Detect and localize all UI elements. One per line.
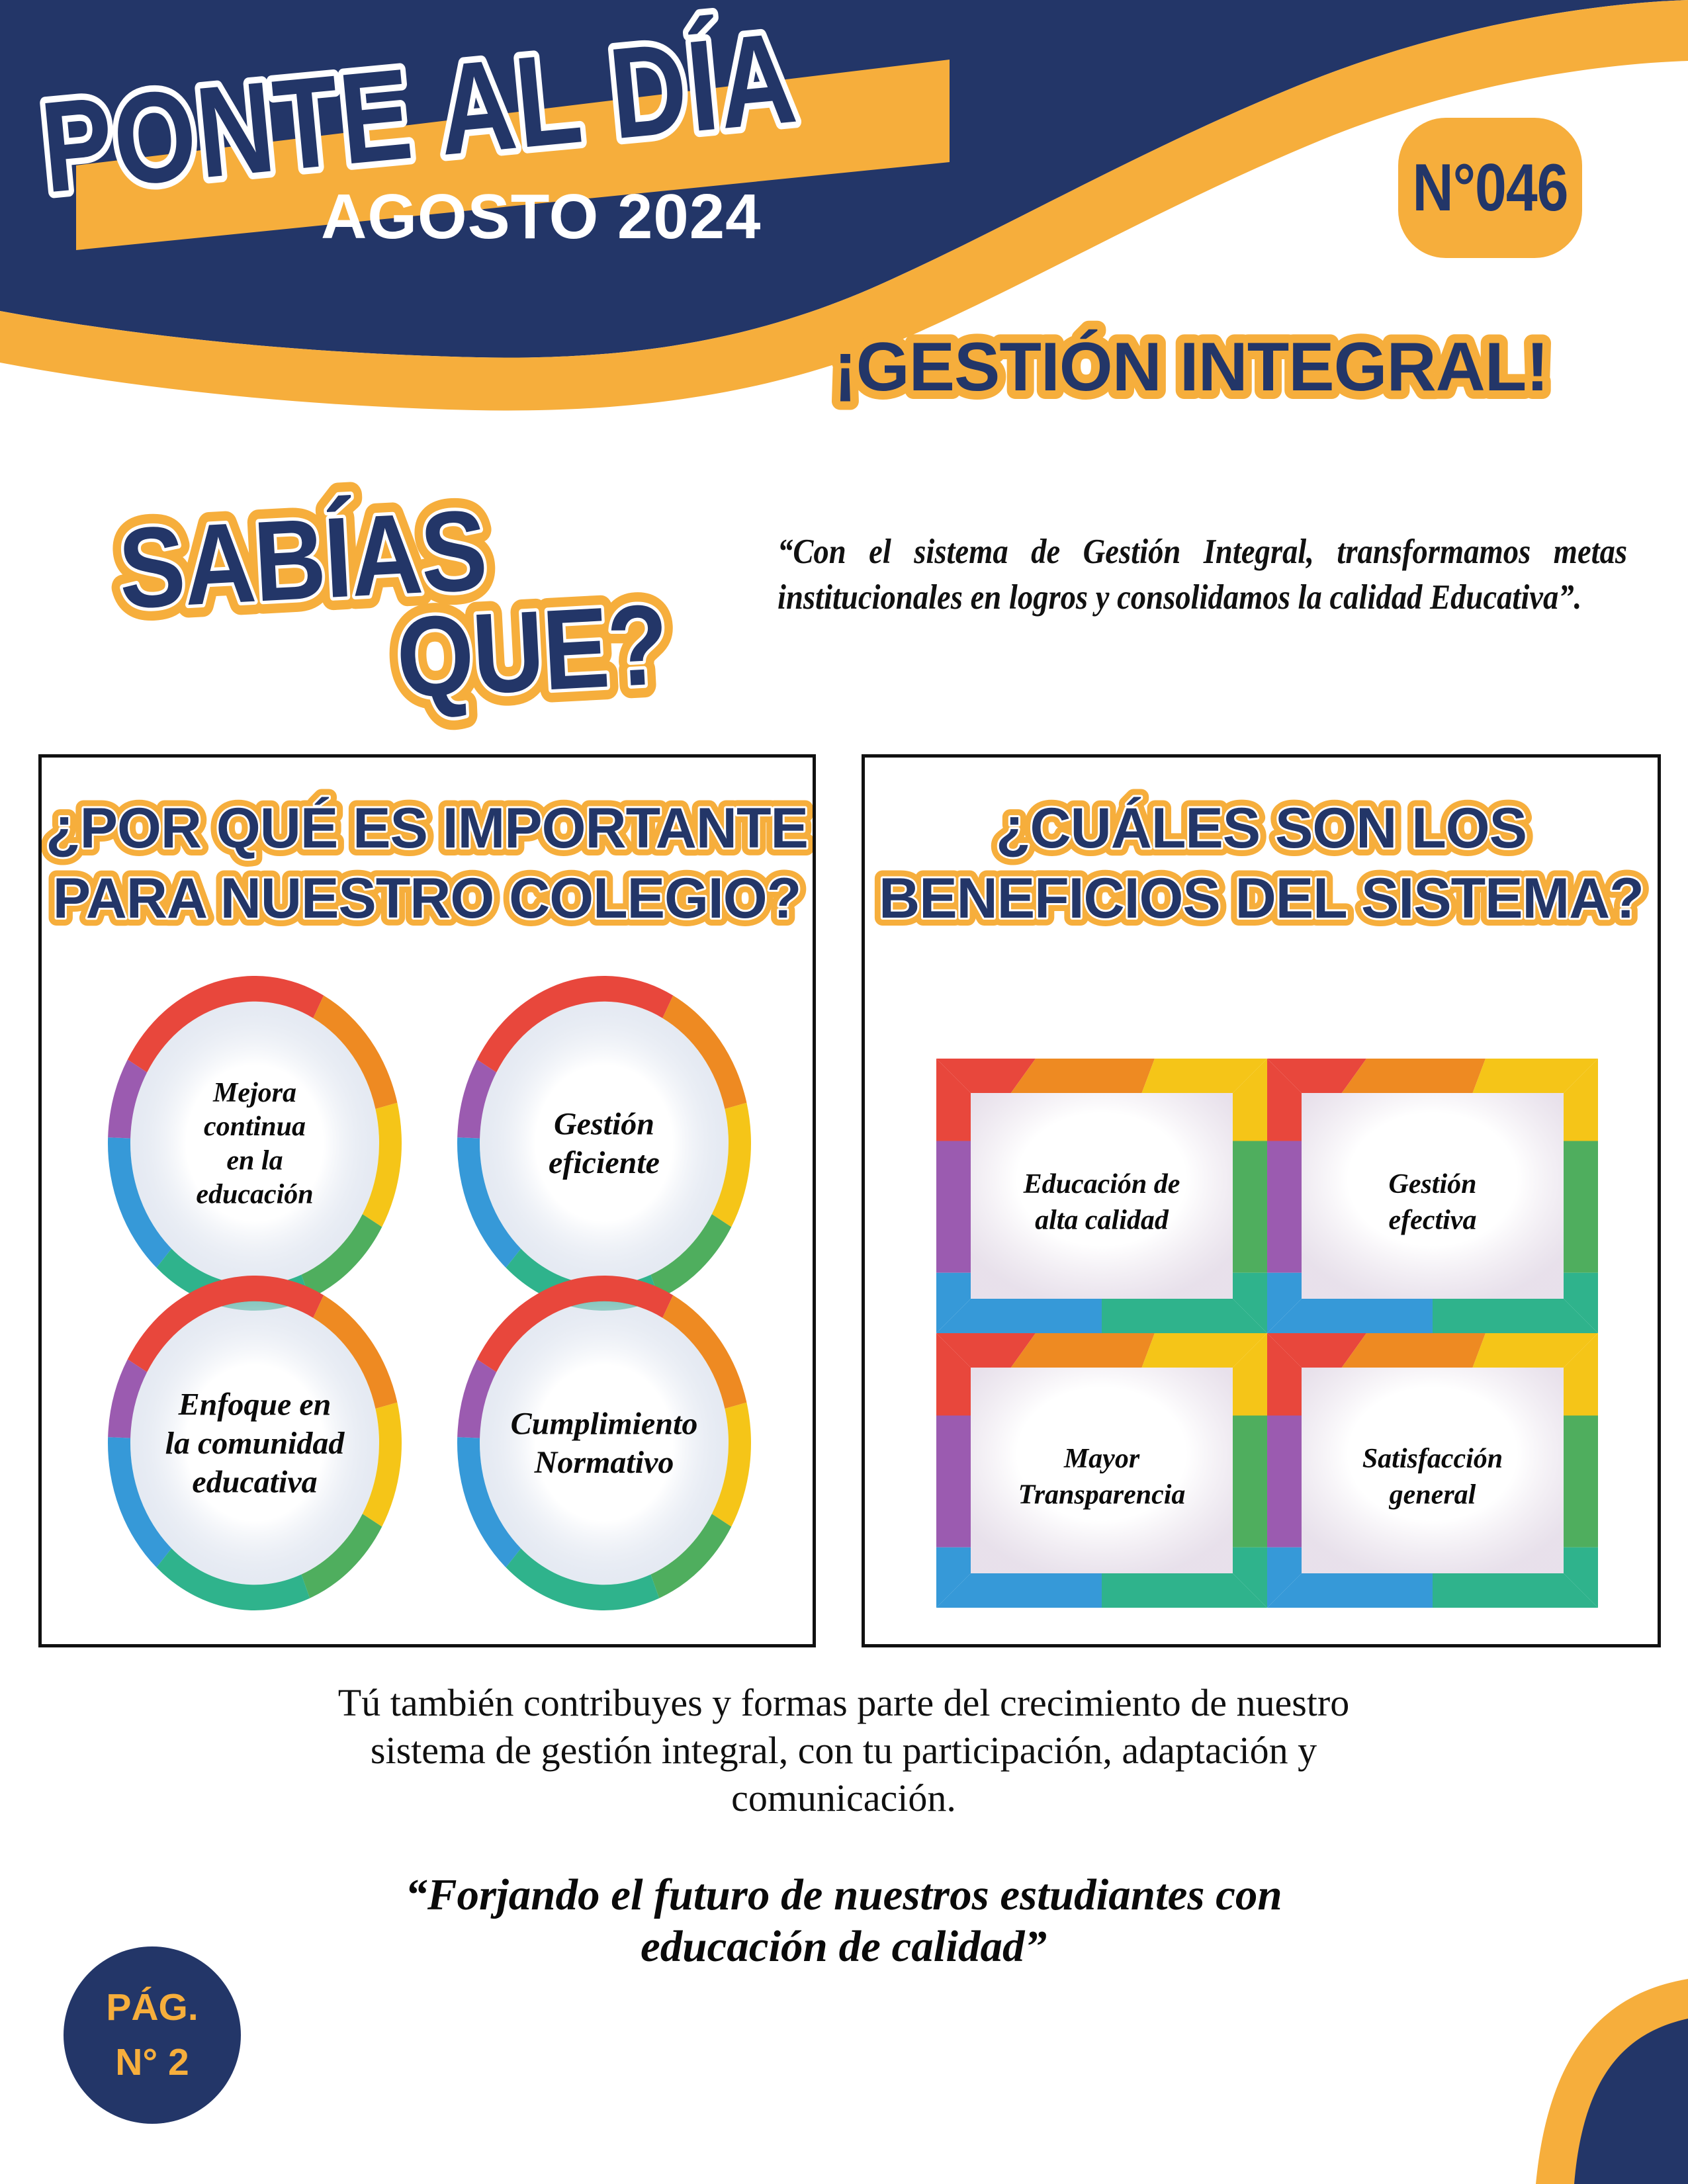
frame-node-label: alta calidad (1035, 1205, 1169, 1235)
ring-node-label: Gestión (554, 1107, 654, 1142)
panel-left-heading-line1-inner: ¿POR QUÉ ES IMPORTANTE (46, 797, 808, 860)
ring-node-label: en la (226, 1145, 283, 1176)
four-frames-graphic: Educación dealta calidadGestiónefectivaM… (936, 1059, 1598, 1608)
frame-node-label: Gestión (1388, 1169, 1476, 1200)
frame-node-label: Satisfacción (1362, 1444, 1503, 1474)
panel-why-important-heading: ¿POR QUÉ ES IMPORTANTE ¿POR QUÉ ES IMPOR… (42, 776, 813, 948)
frame-node: Gestiónefectiva (1267, 1059, 1598, 1333)
masthead-subtitle-text: AGOSTO 2024 (321, 181, 762, 252)
ring-node: CumplimientoNormativo (457, 1276, 751, 1610)
ring-node-label: Cumplimiento (511, 1407, 698, 1442)
closing-line-2: sistema de gestión integral, con tu part… (116, 1727, 1572, 1774)
closing-paragraph: Tú también contribuyes y formas parte de… (116, 1679, 1572, 1822)
page-number: N° 2 (115, 2044, 189, 2081)
frame-node-label: Mayor (1063, 1444, 1140, 1474)
frame-node-label: Transparencia (1018, 1479, 1186, 1510)
panel-right-heading-line1-inner: ¿CUÁLES SON LOS (996, 797, 1527, 860)
bottom-right-corner-decoration (1410, 1966, 1688, 2184)
intro-quote-text: “Con el sistema de Gestión Integral, tra… (777, 529, 1627, 621)
ring-node: Enfoque enla comunidadeducativa (108, 1276, 402, 1610)
ring-node: Mejoracontinuaen laeducación (108, 976, 402, 1311)
frame-node-label: Educación de (1023, 1169, 1180, 1200)
frame-node: MayorTransparencia (936, 1333, 1267, 1608)
ring-node-label: Mejora (212, 1078, 296, 1108)
page-label: PÁG. (106, 1989, 198, 2027)
ring-node-label: educación (196, 1180, 313, 1210)
did-you-know-line2-inner: QUE? (394, 581, 670, 722)
closing-line-1: Tú también contribuyes y formas parte de… (116, 1679, 1572, 1727)
issue-number-badge: N°046 (1398, 118, 1582, 258)
frame-node-label: efectiva (1389, 1205, 1477, 1235)
ring-node-label: la comunidad (165, 1426, 345, 1461)
panel-right-heading-line2-inner: BENEFICIOS DEL SISTEMA? (879, 867, 1644, 930)
ring-node-label: Enfoque en (178, 1387, 332, 1422)
panel-system-benefits-heading: ¿CUÁLES SON LOS ¿CUÁLES SON LOS BENEFICI… (865, 776, 1658, 948)
masthead: PONTE AL DÍA AGOSTO 2024 (36, 20, 963, 251)
tagline-line-1: “Forjando el futuro de nuestros estudian… (116, 1870, 1572, 1921)
frame-node-label: general (1389, 1479, 1476, 1510)
newsletter-page: PONTE AL DÍA AGOSTO 2024 N°046 ¡GESTIÓN … (0, 0, 1688, 2184)
frame-node: Educación dealta calidad (936, 1059, 1267, 1333)
four-rings-graphic: Mejoracontinuaen laeducaciónGestiónefici… (75, 976, 786, 1631)
ring-node: Gestióneficiente (457, 976, 751, 1311)
panel-why-important: ¿POR QUÉ ES IMPORTANTE ¿POR QUÉ ES IMPOR… (38, 754, 816, 1647)
ring-node-label: Normativo (534, 1445, 674, 1480)
panel-system-benefits: ¿CUÁLES SON LOS ¿CUÁLES SON LOS BENEFICI… (862, 754, 1661, 1647)
tagline-line-2: educación de calidad” (116, 1921, 1572, 1973)
tagline: “Forjando el futuro de nuestros estudian… (116, 1870, 1572, 1972)
closing-line-3: comunicación. (116, 1774, 1572, 1822)
intro-quote: “Con el sistema de Gestión Integral, tra… (777, 529, 1624, 621)
section-title-text: ¡GESTIÓN INTEGRAL! (834, 329, 1548, 406)
did-you-know-logo: SABÍAS SABÍAS QUE? QUE? (112, 486, 741, 705)
ring-node-label: eficiente (549, 1145, 660, 1180)
ring-node-label: continua (204, 1112, 306, 1142)
page-number-badge: PÁG. N° 2 (64, 1946, 241, 2124)
panel-left-heading-line2-inner: PARA NUESTRO COLEGIO? (53, 867, 801, 930)
issue-number-label: N°046 (1413, 150, 1568, 227)
section-title: ¡GESTIÓN INTEGRAL! (754, 319, 1628, 412)
frame-node: Satisfaccióngeneral (1267, 1333, 1598, 1608)
ring-node-label: educativa (192, 1464, 317, 1499)
